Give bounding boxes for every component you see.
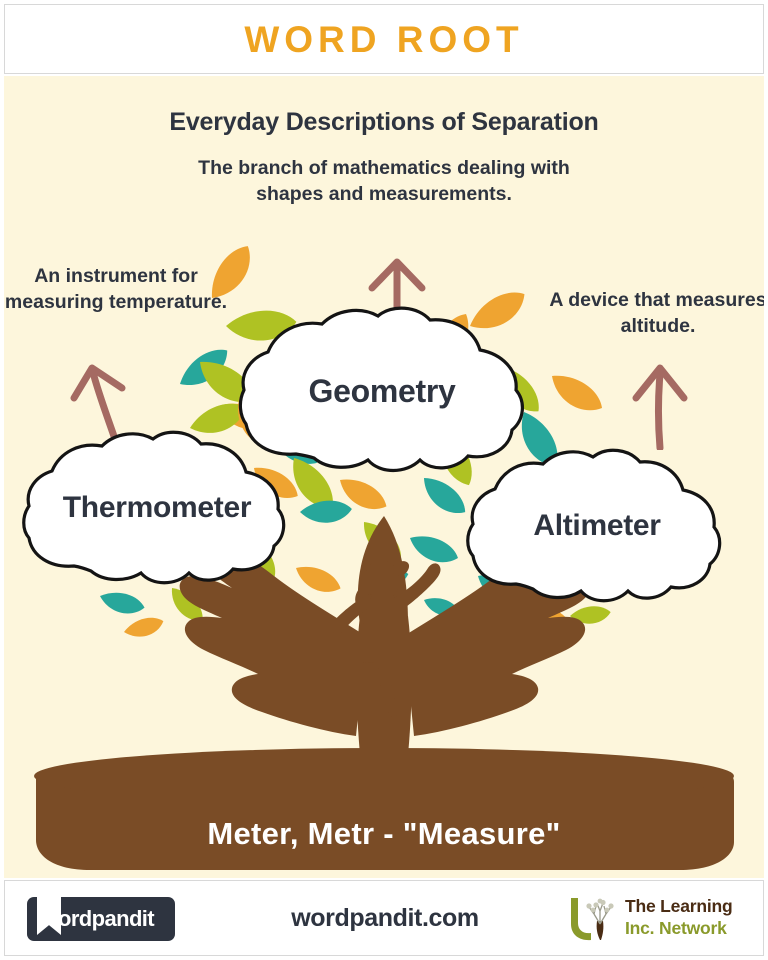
partner-line-1: The Learning: [625, 896, 732, 918]
cloud-altimeter[interactable]: Altimeter: [460, 446, 734, 606]
illustration-stage: Everyday Descriptions of Separation The …: [4, 76, 764, 878]
cloud-thermometer[interactable]: Thermometer: [16, 428, 298, 588]
page-title: WORD ROOT: [244, 21, 523, 58]
partner-logo-text: The Learning Inc. Network: [625, 896, 732, 940]
arrow-up-altimeter: [616, 354, 708, 450]
tree-in-u-icon: [563, 894, 623, 944]
infographic-poster: WORD ROOT Everyday Descriptions of Separ…: [0, 0, 768, 960]
partner-line-2: Inc. Network: [625, 918, 732, 940]
root-banner-text: Meter, Metr - "Measure": [4, 816, 764, 852]
poster-header: WORD ROOT: [4, 4, 764, 74]
the-learning-inc-network-logo[interactable]: The Learning Inc. Network: [563, 894, 745, 944]
poster-footer: ordpandit wordpandit.com The Learni: [4, 880, 764, 956]
